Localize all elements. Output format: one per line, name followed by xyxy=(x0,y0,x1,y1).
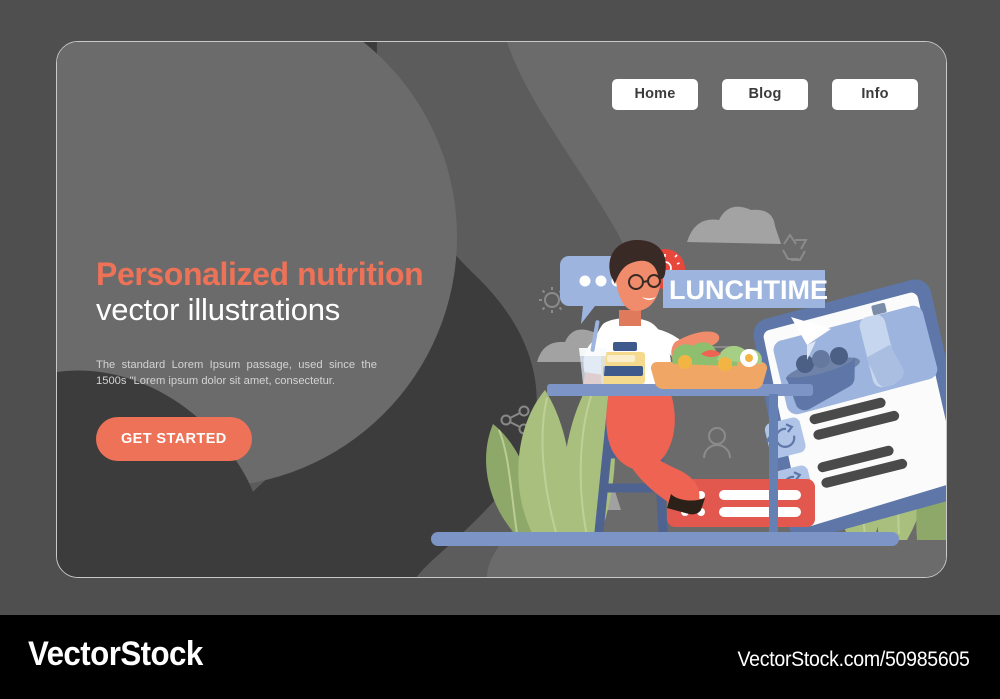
hero-subtitle: The standard Lorem Ipsum passage, used s… xyxy=(96,357,377,389)
hero-title-primary: Personalized nutrition xyxy=(96,258,456,291)
lunch-box xyxy=(601,352,645,384)
vectorstock-url: VectorStock.com/50985605 xyxy=(738,648,970,672)
main-navigation[interactable]: Home Blog Info xyxy=(612,79,918,110)
artboard: Home Blog Info Personalized nutrition ve… xyxy=(0,0,1000,615)
vectorstock-logo: VectorStock xyxy=(28,635,203,674)
lunchtime-banner: LUNCHTIME xyxy=(663,270,828,308)
floor-platform xyxy=(431,532,899,546)
recycle-icon xyxy=(783,235,806,260)
nav-item-info[interactable]: Info xyxy=(832,79,918,110)
vectorstock-footer: VectorStock VectorStock.com/50985605 xyxy=(0,615,1000,699)
landing-page-frame: Home Blog Info Personalized nutrition ve… xyxy=(56,41,947,578)
nav-item-blog[interactable]: Blog xyxy=(722,79,808,110)
nutrition-illustration: LUNCHTIME xyxy=(417,42,947,577)
user-icon xyxy=(704,428,730,458)
get-started-button[interactable]: GET STARTED xyxy=(96,417,252,461)
lunchtime-banner-label: LUNCHTIME xyxy=(669,275,828,305)
label-card xyxy=(613,342,637,351)
nav-item-home[interactable]: Home xyxy=(612,79,698,110)
hero-section: Personalized nutrition vector illustrati… xyxy=(96,258,456,461)
hero-title-secondary: vector illustrations xyxy=(96,293,456,326)
